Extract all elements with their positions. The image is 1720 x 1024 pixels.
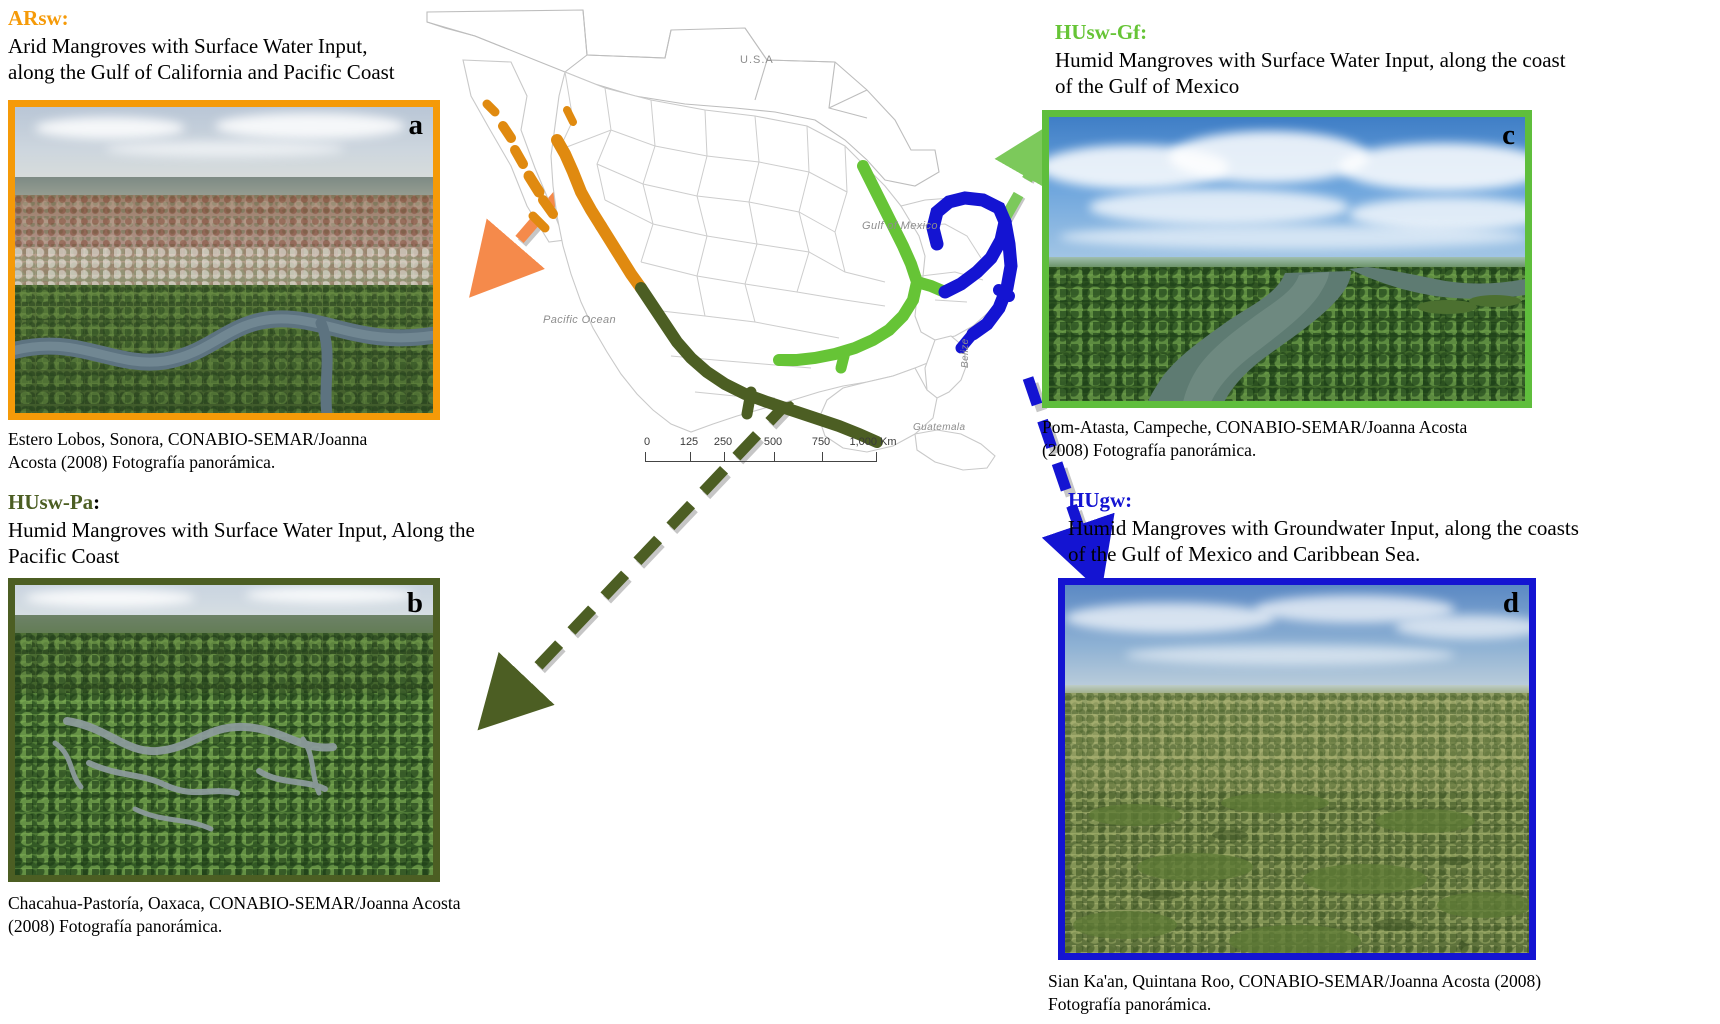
photo-d-caption: Sian Ka'an, Quintana Roo, CONABIO-SEMAR/… xyxy=(1048,970,1588,1016)
scale-tick-500: 500 xyxy=(764,436,782,448)
photo-a-caption: Estero Lobos, Sonora, CONABIO-SEMAR/Joan… xyxy=(8,428,408,474)
map-label-pacific-ocean: Pacific Ocean xyxy=(543,314,616,326)
scale-tick-125: 125 xyxy=(680,436,698,448)
mexico-map: U.S.A Gulf of Mexico Pacific Ocean Beliz… xyxy=(415,0,1055,500)
hugw-text-block: HUgw: Humid Mangroves with Groundwater I… xyxy=(1068,488,1588,567)
scale-tick-0: 0 xyxy=(644,436,650,448)
husw-gf-code-colon: : xyxy=(1140,20,1147,44)
map-scale-bar: 0 125 250 500 750 1,000 Km xyxy=(645,436,877,462)
photo-b-letter: b xyxy=(407,587,423,620)
photo-a-letter: a xyxy=(409,109,424,142)
photo-c-image xyxy=(1049,117,1525,401)
arsw-description: Arid Mangroves with Surface Water Input,… xyxy=(8,33,408,85)
scale-tick-250: 250 xyxy=(714,436,732,448)
husw-pa-text-block: HUsw-Pa: Humid Mangroves with Surface Wa… xyxy=(8,490,488,569)
scale-tick-750: 750 xyxy=(812,436,830,448)
hugw-code-label: HUgw xyxy=(1068,488,1125,512)
husw-pa-code: HUsw-Pa: xyxy=(8,490,488,515)
photo-d-image xyxy=(1065,585,1529,953)
photo-b-image xyxy=(15,585,433,875)
husw-gf-text-block: HUsw-Gf: Humid Mangroves with Surface Wa… xyxy=(1055,20,1575,99)
map-label-belize: Belize xyxy=(960,338,971,368)
photo-a-image xyxy=(15,107,433,413)
husw-pa-code-colon: : xyxy=(93,490,100,514)
husw-pa-description: Humid Mangroves with Surface Water Input… xyxy=(8,517,488,569)
husw-gf-code: HUsw-Gf: xyxy=(1055,20,1575,45)
hugw-code: HUgw: xyxy=(1068,488,1588,513)
arsw-code-colon: : xyxy=(62,6,69,30)
arsw-code: ARsw: xyxy=(8,6,408,31)
arsw-code-label: ARsw xyxy=(8,6,62,30)
photo-panel-a[interactable]: a xyxy=(8,100,440,420)
scale-tick-1000: 1,000 Km xyxy=(849,436,896,448)
map-label-guatemala: Guatemala xyxy=(913,422,966,433)
photo-c-caption: Pom-Atasta, Campeche, CONABIO-SEMAR/Joan… xyxy=(1042,416,1512,462)
photo-panel-c[interactable]: c xyxy=(1042,110,1532,408)
photo-c-letter: c xyxy=(1502,119,1515,152)
husw-pa-code-label: HUsw-Pa xyxy=(8,490,93,514)
hugw-description: Humid Mangroves with Groundwater Input, … xyxy=(1068,515,1588,567)
photo-b-caption: Chacahua-Pastoría, Oaxaca, CONABIO-SEMAR… xyxy=(8,892,508,938)
husw-gf-code-label: HUsw-Gf xyxy=(1055,20,1140,44)
photo-d-letter: d xyxy=(1503,587,1519,620)
husw-gf-description: Humid Mangroves with Surface Water Input… xyxy=(1055,47,1575,99)
map-label-usa: U.S.A xyxy=(740,54,774,66)
hugw-code-colon: : xyxy=(1125,488,1132,512)
map-label-gulf-of-mexico: Gulf of Mexico xyxy=(862,220,938,232)
photo-panel-d[interactable]: d xyxy=(1058,578,1536,960)
arsw-text-block: ARsw: Arid Mangroves with Surface Water … xyxy=(8,6,408,85)
photo-panel-b[interactable]: b xyxy=(8,578,440,882)
